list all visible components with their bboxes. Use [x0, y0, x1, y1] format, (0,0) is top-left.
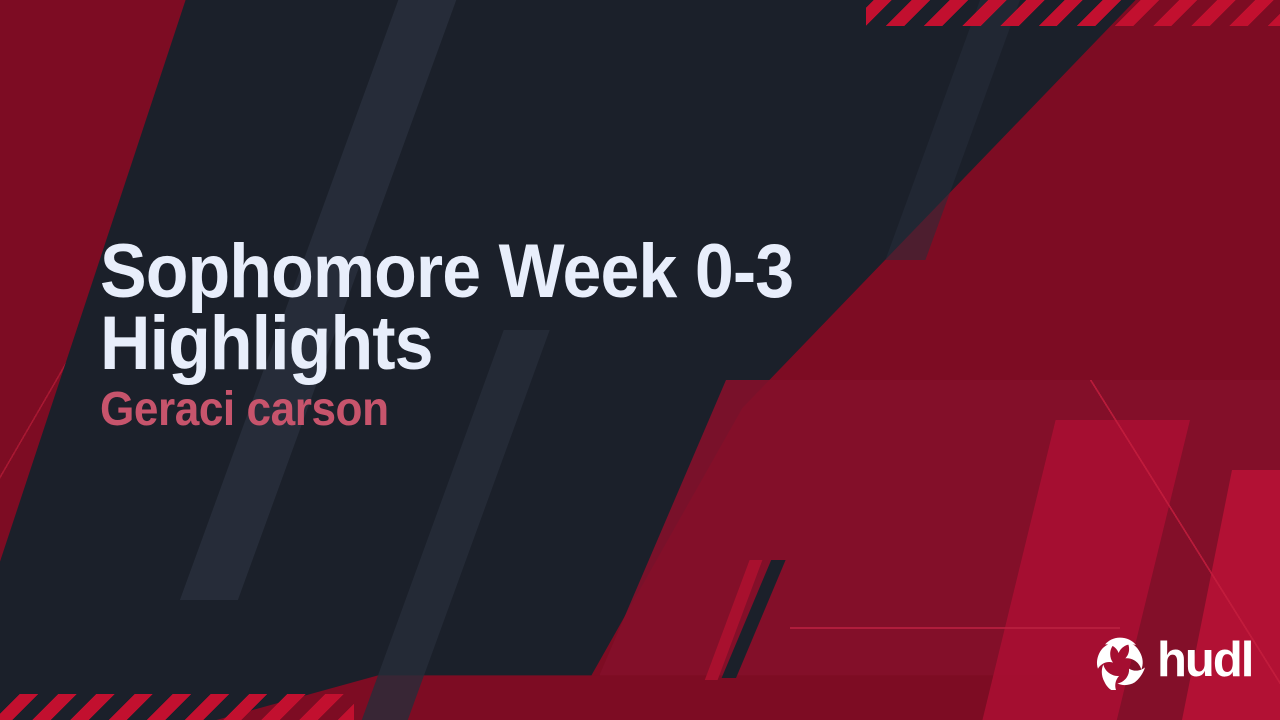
navy-sliver-slash [712, 560, 792, 678]
page-title: Sophomore Week 0-3 Highlights [100, 236, 854, 380]
right-horizontal-hairline [790, 627, 1120, 629]
hazard-stripes-top-right [866, 0, 1280, 26]
navy-sheen-band-3 [885, 0, 1034, 260]
highlight-title-card: Sophomore Week 0-3 Highlights Geraci car… [0, 0, 1280, 720]
title-block: Sophomore Week 0-3 Highlights Geraci car… [100, 236, 920, 434]
athlete-name: Geraci carson [100, 386, 854, 434]
bottom-crimson-foot [180, 660, 1080, 720]
hudl-pinwheel-icon [1092, 634, 1148, 690]
hudl-logo: hudl [1092, 634, 1252, 690]
left-bright-red-bar [150, 0, 330, 120]
hazard-stripes-bottom-left [0, 694, 354, 720]
hudl-wordmark: hudl [1157, 636, 1252, 685]
red-thin-slash [700, 560, 780, 680]
